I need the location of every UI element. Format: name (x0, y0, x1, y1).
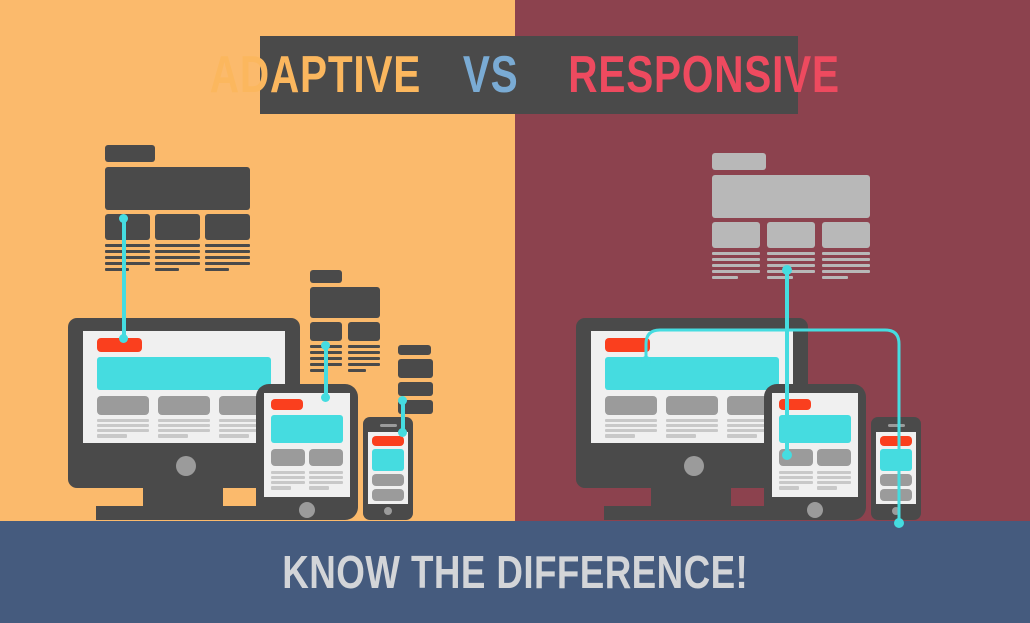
infographic-canvas: ADAPTIVE VS RESPONSIVE (0, 0, 1030, 623)
adaptive-tablet-wireframe (310, 270, 380, 350)
adaptive-desktop-wireframe (105, 145, 250, 255)
banner-text: KNOW THE DIFFERENCE! (282, 545, 748, 599)
responsive-single-wireframe (712, 153, 870, 263)
title-adaptive: ADAPTIVE (210, 49, 421, 101)
adaptive-tablet-device (256, 384, 358, 520)
bottom-banner: KNOW THE DIFFERENCE! (0, 521, 1030, 623)
title-vs: VS (463, 49, 519, 101)
title-bar: ADAPTIVE VS RESPONSIVE (260, 36, 798, 114)
title-responsive: RESPONSIVE (568, 49, 840, 101)
